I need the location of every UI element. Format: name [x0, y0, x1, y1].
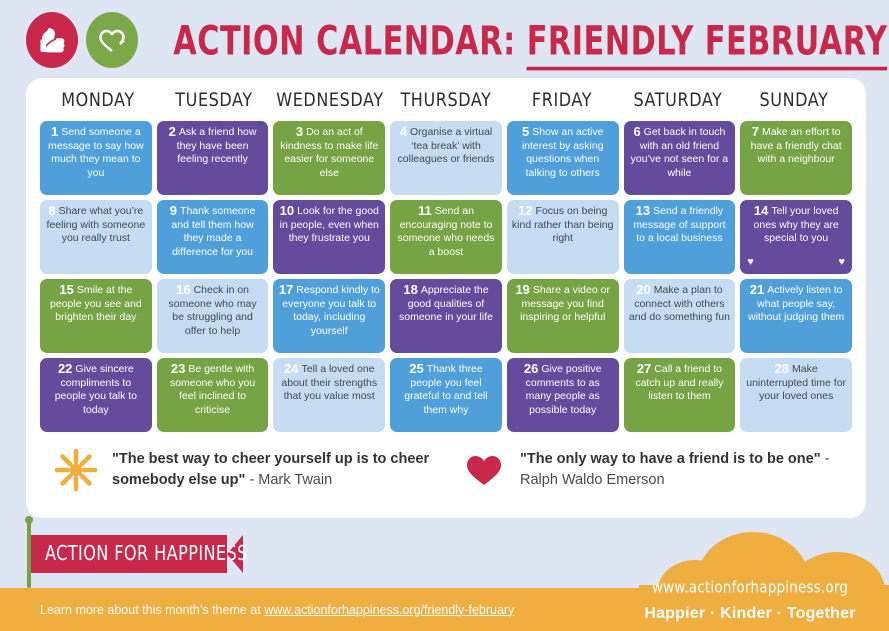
quote-item: "The best way to cheer yourself up is to… — [52, 448, 434, 492]
calendar-day-27[interactable]: 27Call a friend to catch up and really l… — [624, 358, 736, 432]
calendar-day-6[interactable]: 6Get back in touch with an old friend yo… — [624, 121, 736, 195]
day-number: 1 — [51, 124, 58, 139]
learn-more-text: Learn more about this month’s theme at w… — [0, 603, 514, 617]
day-header-friday: FRIDAY — [504, 88, 620, 110]
calendar-day-22[interactable]: 22Give sincere compliments to people you… — [40, 358, 152, 432]
calendar-day-15[interactable]: 15Smile at the people you see and bright… — [40, 279, 152, 353]
day-number: 7 — [752, 124, 759, 139]
day-number: 18 — [403, 282, 417, 297]
calendar-day-headers: MONDAY TUESDAY WEDNESDAY THURSDAY FRIDAY… — [26, 78, 866, 109]
cloud-website-url[interactable]: www.actionforhappiness.org — [635, 579, 865, 597]
day-number: 24 — [284, 361, 298, 376]
calendar-day-8[interactable]: 8Share what you’re feeling with someone … — [40, 200, 152, 274]
day-action-text: Share a video or message you find inspir… — [520, 284, 610, 323]
day-number: 19 — [515, 282, 529, 297]
quote-attribution: - Mark Twain — [245, 472, 332, 488]
calendar-day-26[interactable]: 26Give positive comments to as many peop… — [507, 358, 619, 432]
day-header-saturday: SATURDAY — [620, 88, 736, 110]
calendar-day-14[interactable]: 14Tell your loved ones why they are spec… — [740, 200, 852, 274]
day-number: 2 — [169, 124, 176, 139]
quote-item: "The only way to have a friend is to be … — [460, 448, 842, 492]
day-number: 5 — [522, 124, 529, 139]
day-number: 21 — [750, 282, 764, 297]
quote-text: "The only way to have a friend is to be … — [520, 449, 842, 491]
day-number: 20 — [636, 282, 650, 297]
day-number: 9 — [170, 203, 177, 218]
quote-body: "The only way to have a friend is to be … — [520, 451, 821, 467]
day-action-text: Make uninterrupted time for your loved o… — [746, 363, 846, 402]
day-number: 17 — [279, 282, 293, 297]
day-number: 13 — [636, 203, 650, 218]
day-number: 25 — [409, 361, 423, 376]
day-number: 3 — [296, 124, 303, 139]
day-number: 6 — [633, 124, 640, 139]
brand-flag-banner: ACTION FOR HAPPINESS — [31, 535, 243, 573]
calendar-day-4[interactable]: 4Organise a virtual ‘tea break’ with col… — [390, 121, 502, 195]
day-action-text: Send an encouraging note to someone who … — [398, 205, 495, 258]
title-highlight: FRIENDLY FEBRUARY — [527, 16, 888, 70]
day-action-text: Share what you’re feeling with someone y… — [47, 205, 146, 244]
calendar-day-1[interactable]: 1Send someone a message to say how much … — [40, 121, 152, 195]
calendar-day-16[interactable]: 16Check in on someone who may be struggl… — [157, 279, 269, 353]
day-action-text: Send someone a message to say how much t… — [48, 126, 144, 179]
day-action-text: Show an active interest by asking questi… — [522, 126, 604, 179]
calendar-panel: MONDAY TUESDAY WEDNESDAY THURSDAY FRIDAY… — [26, 78, 866, 518]
page-header: ACTION CALENDAR: FRIENDLY FEBRUARY 2021 — [0, 0, 889, 80]
heart-arrow-icon — [86, 12, 138, 68]
day-action-text: Make an effort to have a friendly chat w… — [751, 126, 842, 165]
day-action-text: Get back in touch with an old friend you… — [631, 126, 728, 179]
calendar-day-3[interactable]: 3Do an act of kindness to make life easi… — [273, 121, 385, 195]
day-number: 4 — [400, 124, 407, 139]
calendar-day-17[interactable]: 17Respond kindly to everyone you talk to… — [273, 279, 385, 353]
day-header-sunday: SUNDAY — [736, 88, 852, 110]
sun-icon — [52, 448, 100, 492]
day-number: 10 — [280, 203, 294, 218]
calendar-day-13[interactable]: 13Send a friendly message of support to … — [624, 200, 736, 274]
day-number: 23 — [171, 361, 185, 376]
day-number: 12 — [518, 203, 532, 218]
calendar-day-12[interactable]: 12Focus on being kind rather than being … — [507, 200, 619, 274]
day-action-text: Respond kindly to everyone you talk to t… — [282, 284, 379, 337]
day-number: 11 — [418, 203, 432, 218]
page-title: ACTION CALENDAR: FRIENDLY FEBRUARY 2021 — [138, 21, 889, 60]
calendar-day-28[interactable]: 28Make uninterrupted time for your loved… — [740, 358, 852, 432]
calendar-day-23[interactable]: 23Be gentle with someone who you feel in… — [157, 358, 269, 432]
brand-name: ACTION FOR HAPPINESS — [45, 542, 248, 566]
day-action-text: Ask a friend how they have been feeling … — [177, 126, 257, 165]
day-action-text: Thank someone and tell them how they mad… — [171, 205, 255, 258]
calendar-grid: 1Send someone a message to say how much … — [26, 109, 866, 432]
day-number: 8 — [48, 203, 55, 218]
heart-icon: ♥ — [838, 256, 845, 270]
day-number: 14 — [754, 203, 768, 218]
day-header-thursday: THURSDAY — [388, 88, 504, 110]
heart-icon: ♥ — [747, 256, 754, 270]
calendar-day-24[interactable]: 24Tell a loved one about their strengths… — [273, 358, 385, 432]
calendar-day-9[interactable]: 9Thank someone and tell them how they ma… — [157, 200, 269, 274]
quotes-section: "The best way to cheer yourself up is to… — [26, 432, 866, 492]
day-action-text: Organise a virtual ‘tea break’ with coll… — [398, 126, 495, 165]
heart-icon — [460, 450, 508, 490]
calendar-day-20[interactable]: 20Make a plan to connect with others and… — [624, 279, 736, 353]
day-number: 22 — [58, 361, 72, 376]
calendar-day-7[interactable]: 7Make an effort to have a friendly chat … — [740, 121, 852, 195]
flag-notch — [227, 535, 243, 573]
learn-more-prefix: Learn more about this month’s theme at — [40, 603, 264, 617]
day-number: 26 — [524, 361, 538, 376]
day-header-wednesday: WEDNESDAY — [272, 88, 388, 110]
calendar-day-18[interactable]: 18Appreciate the good qualities of someo… — [390, 279, 502, 353]
day-number: 15 — [59, 282, 73, 297]
calendar-day-2[interactable]: 2Ask a friend how they have been feeling… — [157, 121, 269, 195]
calendar-day-21[interactable]: 21Actively listen to what people say, wi… — [740, 279, 852, 353]
calendar-day-25[interactable]: 25Thank three people you feel grateful t… — [390, 358, 502, 432]
day-header-monday: MONDAY — [40, 88, 156, 110]
learn-more-link[interactable]: www.actionforhappiness.org/friendly-febr… — [264, 603, 514, 617]
calendar-day-11[interactable]: 11Send an encouraging note to someone wh… — [390, 200, 502, 274]
day-action-text: Do an act of kindness to make life easie… — [280, 126, 378, 179]
calendar-day-10[interactable]: 10Look for the good in people, even when… — [273, 200, 385, 274]
day-header-tuesday: TUESDAY — [156, 88, 272, 110]
day-number: 27 — [637, 361, 651, 376]
day-number: 16 — [176, 282, 190, 297]
page-footer: ACTION FOR HAPPINESS — [0, 518, 889, 631]
quote-text: "The best way to cheer yourself up is to… — [112, 449, 434, 491]
title-main: ACTION CALENDAR: — [173, 16, 526, 64]
brand-flag: ACTION FOR HAPPINESS — [27, 522, 31, 588]
calendar-day-5[interactable]: 5Show an active interest by asking quest… — [507, 121, 619, 195]
day-action-text: Look for the good in people, even when t… — [280, 205, 379, 244]
cloud-tagline: Happier · Kinder · Together — [635, 605, 865, 623]
calendar-day-19[interactable]: 19Share a video or message you find insp… — [507, 279, 619, 353]
thumbs-up-icon — [26, 12, 78, 68]
day-number: 28 — [775, 361, 789, 376]
cloud-text-block: www.actionforhappiness.org Happier · Kin… — [635, 580, 865, 623]
